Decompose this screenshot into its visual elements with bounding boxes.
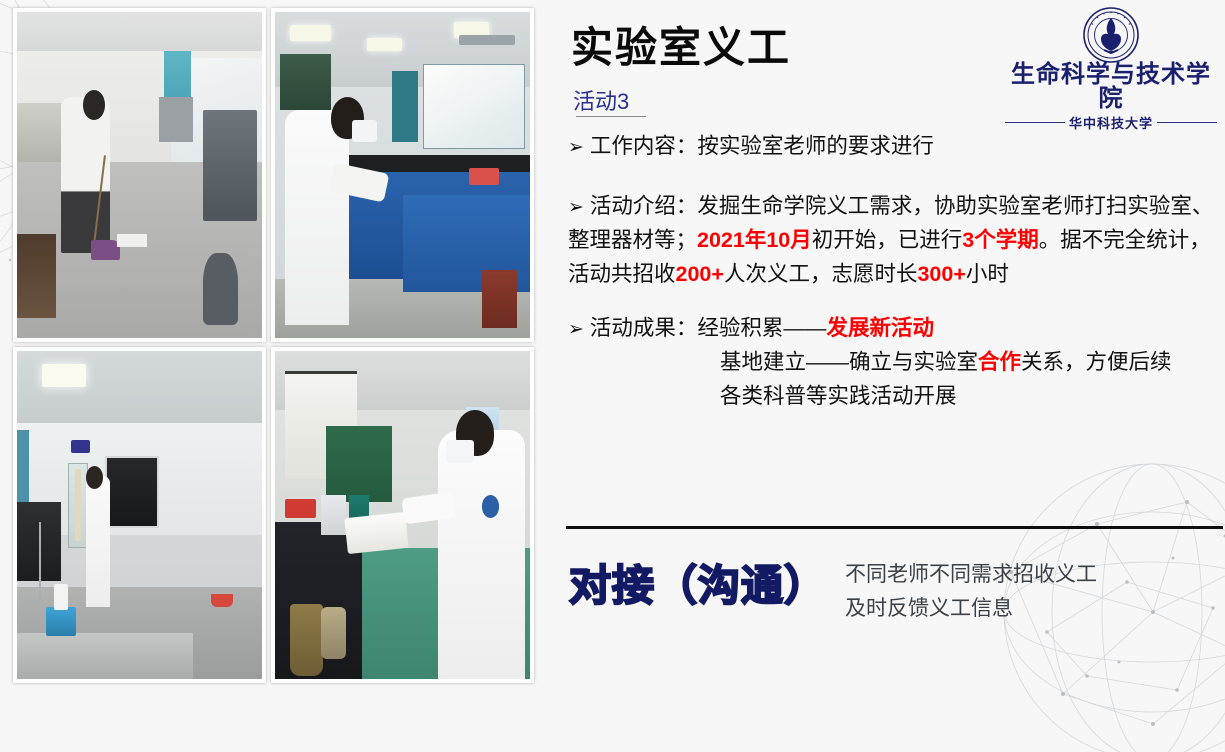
photo-image-3 xyxy=(17,351,262,679)
bullet-sub-line: 各类科普等实践活动开展 xyxy=(568,380,1225,414)
footer-section: 对接（沟通） 不同老师不同需求招收义工 及时反馈义工信息 xyxy=(565,552,1225,626)
footer-headline: 对接（沟通） xyxy=(565,552,827,613)
bullet-text-part: 基地建立——确立与实验室 xyxy=(720,350,978,374)
highlight-new-activity: 发展新活动 xyxy=(826,316,934,340)
highlight-volunteer-count: 200+ xyxy=(676,262,724,286)
content-panel: 生命科学与技术学院 华中科技大学 实验室义工 活动3 ➢工作内容：按实验室老师的… xyxy=(565,0,1225,692)
bullet-list: ➢工作内容：按实验室老师的要求进行 ➢活动介绍：发掘生命学院义工需求，协助实验室… xyxy=(568,130,1225,434)
bullet-marker-icon: ➢ xyxy=(568,196,584,218)
logo-college-name: 生命科学与技术学院 xyxy=(1005,62,1217,110)
photo-student-carrying-tray-in-lab[interactable] xyxy=(271,347,534,683)
photo-image-4 xyxy=(275,351,530,679)
bullet-line: ➢活动成果：经验积累——发展新活动 xyxy=(568,312,1225,346)
photo-student-working-at-blue-lab-bench[interactable] xyxy=(271,8,534,342)
bullet-item-activity-outcome: ➢活动成果：经验积累——发展新活动 基地建立——确立与实验室合作关系，方便后续 … xyxy=(568,312,1225,414)
highlight-service-hours: 300+ xyxy=(917,262,965,286)
bullet-line: ➢工作内容：按实验室老师的要求进行 xyxy=(568,130,1225,164)
logo-rule-left xyxy=(1005,122,1065,123)
photo-student-with-skeleton-model-and-monitors[interactable] xyxy=(13,347,266,683)
subtitle-underline xyxy=(576,116,646,117)
footer-note-line-2: 及时反馈义工信息 xyxy=(845,592,1097,626)
highlight-semesters: 3个学期 xyxy=(962,228,1038,252)
bullet-text-part: 活动成果：经验积累—— xyxy=(590,316,827,340)
bullet-text-part: 人次义工，志愿时长 xyxy=(724,262,918,286)
highlight-start-date: 2021年10月 xyxy=(697,228,812,252)
bullet-text-part: 各类科普等实践活动开展 xyxy=(720,384,957,408)
bullet-item-activity-intro: ➢活动介绍：发掘生命学院义工需求，协助实验室老师打扫实验室、整理器材等；2021… xyxy=(568,190,1225,292)
highlight-cooperation: 合作 xyxy=(978,350,1021,374)
bullet-line: ➢活动介绍：发掘生命学院义工需求，协助实验室老师打扫实验室、整理器材等；2021… xyxy=(568,190,1225,292)
photo-image-2 xyxy=(275,12,530,338)
slide-title: 实验室义工 xyxy=(571,14,791,75)
footer-notes: 不同老师不同需求招收义工 及时反馈义工信息 xyxy=(845,552,1097,626)
footer-note-line-1: 不同老师不同需求招收义工 xyxy=(845,558,1097,592)
bullet-marker-icon: ➢ xyxy=(568,318,584,340)
photo-collage xyxy=(13,8,534,685)
bullet-sub-line: 基地建立——确立与实验室合作关系，方便后续 xyxy=(568,346,1225,380)
bullet-text-part: 关系，方便后续 xyxy=(1021,350,1172,374)
hust-life-science-crest-icon xyxy=(1082,6,1140,64)
photo-image-1 xyxy=(17,12,262,338)
bullet-text-part: 初开始，已进行 xyxy=(812,228,963,252)
section-divider xyxy=(566,526,1223,529)
photo-volunteer-sweeping-lab-floor[interactable] xyxy=(13,8,266,342)
bullet-text-part: 小时 xyxy=(966,262,1009,286)
bullet-item-work-content: ➢工作内容：按实验室老师的要求进行 xyxy=(568,130,1225,164)
logo-rule-right xyxy=(1157,122,1217,123)
institution-logo: 生命科学与技术学院 华中科技大学 xyxy=(1005,6,1217,132)
bullet-text: 工作内容：按实验室老师的要求进行 xyxy=(590,134,934,158)
bullet-marker-icon: ➢ xyxy=(568,136,584,158)
slide-subtitle: 活动3 xyxy=(573,84,629,116)
